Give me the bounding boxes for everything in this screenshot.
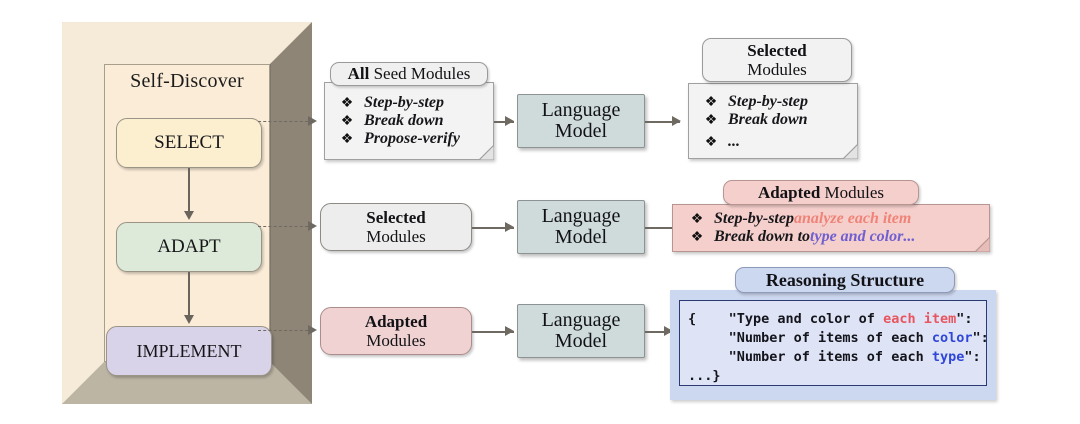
dashed-connector-select [258,121,308,122]
diamond-bullet-icon: ❖ [680,211,714,228]
list-item: ❖ Break down to type and color ... [680,228,915,246]
list-item: ❖ Propose-verify [330,130,460,148]
language-model-line2: Model [555,227,607,248]
language-model-1[interactable]: Language Model [517,94,645,148]
selected-modules-caption: Selected Modules [702,38,852,82]
selected-modules-note[interactable]: ❖ Step-by-step ❖ Break down ❖ ... [688,83,858,159]
diamond-bullet-icon: ❖ [330,131,364,148]
note-dogear-icon [843,144,858,159]
stage-select-label: SELECT [154,132,224,154]
selected-modules-input-box[interactable]: Selected Modules [320,203,472,251]
caption-bold: Selected [747,41,806,60]
reasoning-structure-code: { "Type and color of each item": "Number… [680,301,986,387]
list-item: ❖ ... [694,133,808,151]
code-line-2-a: "Number of items of each [688,330,932,346]
box-line1: Selected [366,208,425,227]
code-line-3-c: ": [964,349,980,365]
caption-bold: Reasoning Structure [766,270,924,291]
box-line2: Modules [366,331,426,350]
dashed-connector-implement [258,330,308,331]
connector-selected-to-lm2-head [505,222,514,232]
diamond-bullet-icon: ❖ [330,95,364,112]
caption-rest: Modules [747,60,807,79]
dashed-connector-adapt-head [308,221,317,231]
adapted-modules-caption: Adapted Modules [723,180,919,205]
connector-lm1-to-selected-head [672,116,681,126]
code-line-1-highlight: each item [883,311,956,327]
container-right-face [270,22,312,404]
container-left-bevel [62,22,106,404]
module-label: Step-by-step [728,93,808,111]
caption-rest: Seed Modules [369,64,470,83]
arrow-adapt-to-implement [188,272,190,316]
language-model-line2: Model [555,331,607,352]
diamond-bullet-icon: ❖ [694,112,728,129]
module-label: Propose-verify [364,130,460,148]
module-text-plain: Break down to [714,228,810,246]
stage-implement-label: IMPLEMENT [137,341,242,362]
list-item: ❖ Break down [330,112,460,130]
dashed-connector-implement-head [308,325,317,335]
list-item: ❖ Step-by-step analyze each item [680,210,915,228]
module-text-ellipsis: ... [903,228,915,246]
dashed-connector-adapt [258,226,308,227]
adapted-modules-list: ❖ Step-by-step analyze each item ❖ Break… [680,210,915,246]
diamond-bullet-icon: ❖ [694,134,728,151]
language-model-line1: Language [542,206,621,227]
selected-modules-list: ❖ Step-by-step ❖ Break down ❖ ... [694,93,808,151]
list-item: ❖ Step-by-step [694,93,808,111]
reasoning-structure-code-block: { "Type and color of each item": "Number… [679,300,987,386]
language-model-line1: Language [542,310,621,331]
caption-bold: Adapted [758,183,820,202]
code-line-1-c: ": [956,311,972,327]
language-model-3[interactable]: Language Model [517,304,645,358]
module-text-highlight-red: analyze each item [794,210,911,228]
module-text-highlight-purple: type and color [810,228,903,246]
dashed-connector-select-head [308,116,317,126]
stage-implement[interactable]: IMPLEMENT [106,326,272,376]
module-text-plain: Step-by-step [714,210,794,228]
caption-bold: All [348,64,370,83]
module-label: ... [728,133,740,151]
stage-select[interactable]: SELECT [116,118,262,168]
code-line-3-highlight: type [932,349,965,365]
language-model-2[interactable]: Language Model [517,200,645,254]
arrow-select-to-adapt [188,168,190,212]
reasoning-structure-caption: Reasoning Structure [735,267,955,293]
code-line-2-highlight: color [932,330,973,346]
module-label: Step-by-step [364,94,444,112]
language-model-line1: Language [542,100,621,121]
box-line2: Modules [366,227,426,246]
module-label: Break down [728,111,808,129]
connector-adapted-to-lm3-head [505,326,514,336]
list-item: ❖ Step-by-step [330,94,460,112]
note-dogear-icon [479,145,494,160]
connector-seed-to-lm1-head [505,116,514,126]
arrow-adapt-to-implement-head [184,315,194,324]
self-discover-container: Self-Discover SELECT ADAPT IMPLEMENT [62,22,312,404]
box-line1: Adapted [365,312,427,331]
diagram-canvas: Self-Discover SELECT ADAPT IMPLEMENT [0,0,1080,424]
code-line-2-c: ": [972,330,988,346]
all-seed-modules-list: ❖ Step-by-step ❖ Break down ❖ Propose-ve… [330,94,460,148]
code-line-3-a: "Number of items of each [688,349,932,365]
module-label: Break down [364,112,444,130]
adapted-modules-note[interactable]: ❖ Step-by-step analyze each item ❖ Break… [672,204,990,252]
code-line-1-a: { "Type and color of [688,311,883,327]
language-model-line2: Model [555,121,607,142]
diamond-bullet-icon: ❖ [330,113,364,130]
stage-adapt-label: ADAPT [157,236,220,258]
list-item: ❖ Break down [694,111,808,129]
diamond-bullet-icon: ❖ [694,94,728,111]
caption-rest: Modules [820,183,884,202]
code-line-4: ...} [688,368,721,384]
arrow-select-to-adapt-head [184,211,194,220]
all-seed-modules-note[interactable]: ❖ Step-by-step ❖ Break down ❖ Propose-ve… [324,82,494,160]
adapted-modules-input-box[interactable]: Adapted Modules [320,307,472,355]
container-top-bevel [62,22,312,64]
stage-adapt[interactable]: ADAPT [116,222,262,272]
all-seed-modules-caption: All Seed Modules [330,62,488,86]
container-title: Self-Discover [104,70,270,93]
note-dogear-icon [975,237,990,252]
diamond-bullet-icon: ❖ [680,229,714,246]
